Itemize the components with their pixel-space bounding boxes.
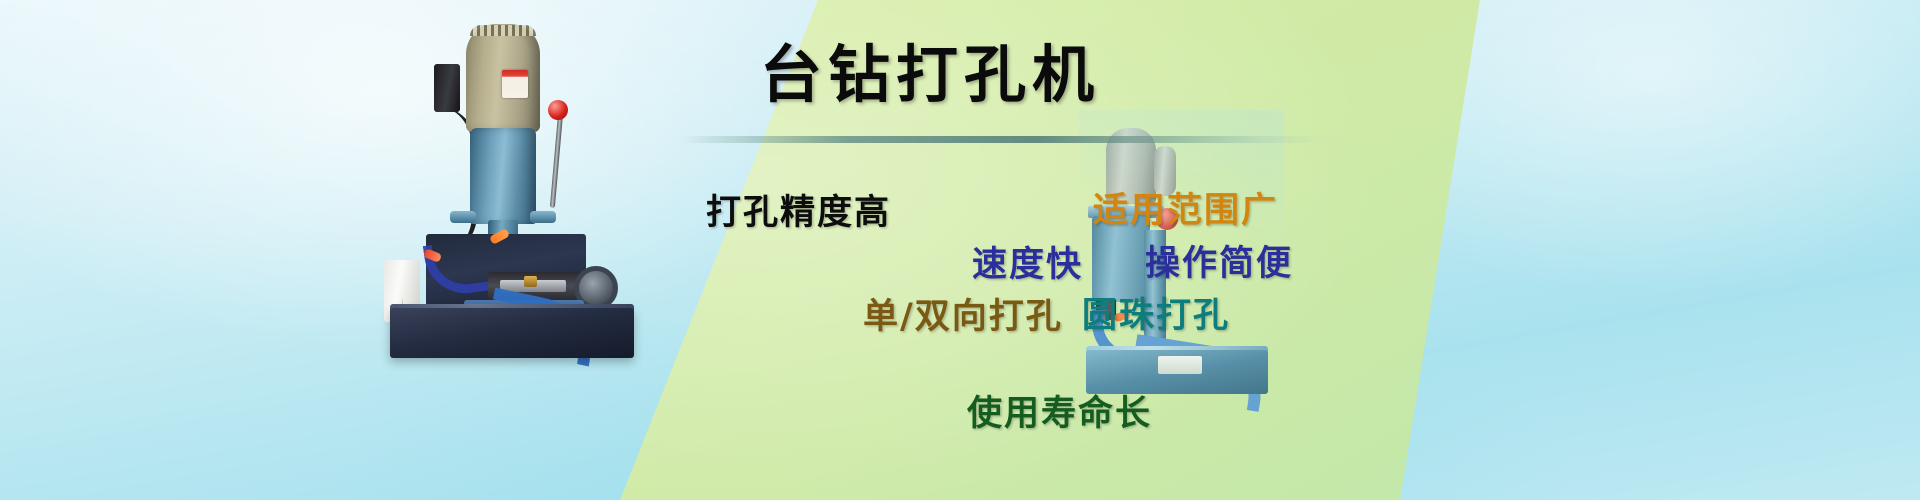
- feature-item: 速度快: [972, 236, 1083, 287]
- feature-item: 使用寿命长: [967, 385, 1152, 436]
- feature-item: 圆珠打孔: [1082, 287, 1230, 338]
- feature-item: 单/双向打孔: [863, 288, 1063, 339]
- feature-item: 操作简便: [1145, 235, 1293, 286]
- feature-item: 打孔精度高: [706, 184, 891, 235]
- feature-item: 适用范围广: [1093, 182, 1278, 233]
- feature-list: 打孔精度高适用范围广速度快操作简便单/双向打孔圆珠打孔使用寿命长: [0, 0, 1920, 500]
- promo-banner: 台钻打孔机 打孔精度高适用范围广速度快操作简便单/双向打孔圆珠打孔使用寿命长: [0, 0, 1920, 500]
